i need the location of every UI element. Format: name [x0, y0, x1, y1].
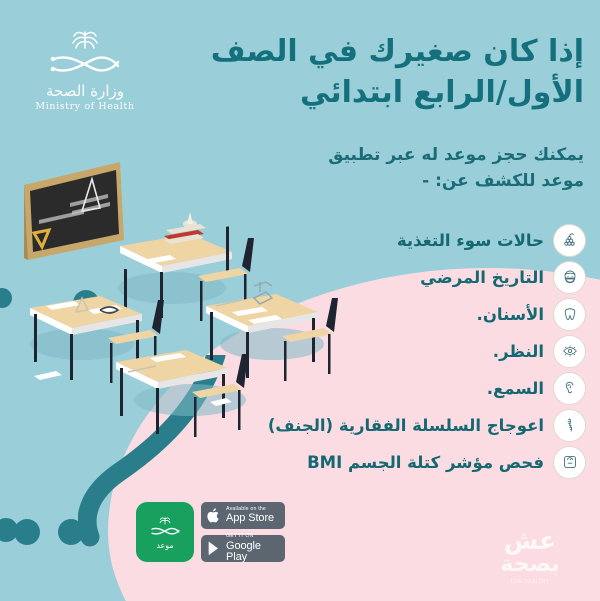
google-play-small-label: GET IT ON	[226, 534, 280, 539]
watermark-line-1: عش	[478, 528, 582, 553]
decorative-dot	[14, 519, 40, 545]
checklist-item-label: التاريخ المرضي	[420, 268, 544, 287]
infographic-poster: وزارة الصحة Ministry of Health إذا كان ص…	[0, 0, 600, 601]
google-play-label: Google Play	[226, 541, 280, 563]
live-healthy-watermark: عش بصحة LIVE HEALTHY	[478, 528, 582, 585]
subheading: يمكنك حجز موعد له عبر تطبيق موعد للكشف ع…	[184, 142, 584, 195]
checklist-item[interactable]: السمع.	[156, 370, 586, 406]
checklist-item-label: الأسنان.	[477, 305, 544, 324]
checklist-item-label: فحص مؤشر كتلة الجسم BMI	[307, 453, 544, 472]
subheading-line-1: يمكنك حجز موعد له عبر تطبيق	[184, 142, 584, 168]
checklist-item[interactable]: فحص مؤشر كتلة الجسم BMI	[156, 444, 586, 480]
checklist-item[interactable]: النظر.	[156, 333, 586, 369]
mawid-app-name: موعد	[156, 541, 173, 550]
tooth-icon	[553, 298, 586, 331]
mawid-app-icon[interactable]: موعد	[136, 502, 194, 562]
play-triangle-icon	[206, 540, 221, 557]
headline: إذا كان صغيرك في الصف الأول/الرابع ابتدا…	[164, 32, 584, 113]
headline-line-2: الأول/الرابع ابتدائي	[164, 73, 584, 114]
app-store-label: App Store	[226, 513, 274, 524]
saudi-moh-emblem-icon	[147, 514, 183, 540]
blackboard-icon	[24, 162, 124, 260]
checklist-item-label: النظر.	[493, 342, 544, 361]
subheading-line-2: موعد للكشف عن: -	[184, 168, 584, 194]
masked-face-medical-history-icon	[553, 261, 586, 294]
checklist-item[interactable]: الأسنان.	[156, 296, 586, 332]
checklist-item-label: حالات سوء التغذية	[397, 231, 544, 250]
google-play-badge[interactable]: GET IT ON Google Play	[201, 535, 285, 562]
checklist-item[interactable]: التاريخ المرضي	[156, 259, 586, 295]
grapes-nutrition-icon	[553, 224, 586, 257]
headline-line-1: إذا كان صغيرك في الصف	[164, 32, 584, 73]
ear-hearing-icon	[553, 372, 586, 405]
checklist-item[interactable]: حالات سوء التغذية	[156, 222, 586, 258]
spine-scoliosis-icon	[553, 409, 586, 442]
apple-icon	[206, 507, 221, 524]
weight-scale-bmi-icon	[553, 446, 586, 479]
watermark-line-2: بصحة	[478, 553, 582, 576]
logo-arabic-name: وزارة الصحة	[20, 82, 150, 100]
watermark-english: LIVE HEALTHY	[478, 579, 582, 585]
app-download-badges: موعد Available on the App Store	[136, 502, 285, 562]
checklist-item-label: اعوجاج السلسلة الفقارية (الجنف)	[268, 416, 544, 435]
app-store-small-label: Available on the	[226, 507, 274, 512]
checklist-item[interactable]: اعوجاج السلسلة الفقارية (الجنف)	[156, 407, 586, 443]
eye-vision-icon	[553, 335, 586, 368]
screening-checklist: حالات سوء التغذية التاريخ المرضي الأ	[156, 222, 586, 481]
checklist-item-label: السمع.	[487, 379, 544, 398]
logo-english-name: Ministry of Health	[20, 101, 150, 112]
ministry-of-health-logo: وزارة الصحة Ministry of Health	[20, 28, 150, 112]
app-store-badge[interactable]: Available on the App Store	[201, 502, 285, 529]
saudi-palm-and-swords-emblem-icon	[42, 28, 128, 80]
